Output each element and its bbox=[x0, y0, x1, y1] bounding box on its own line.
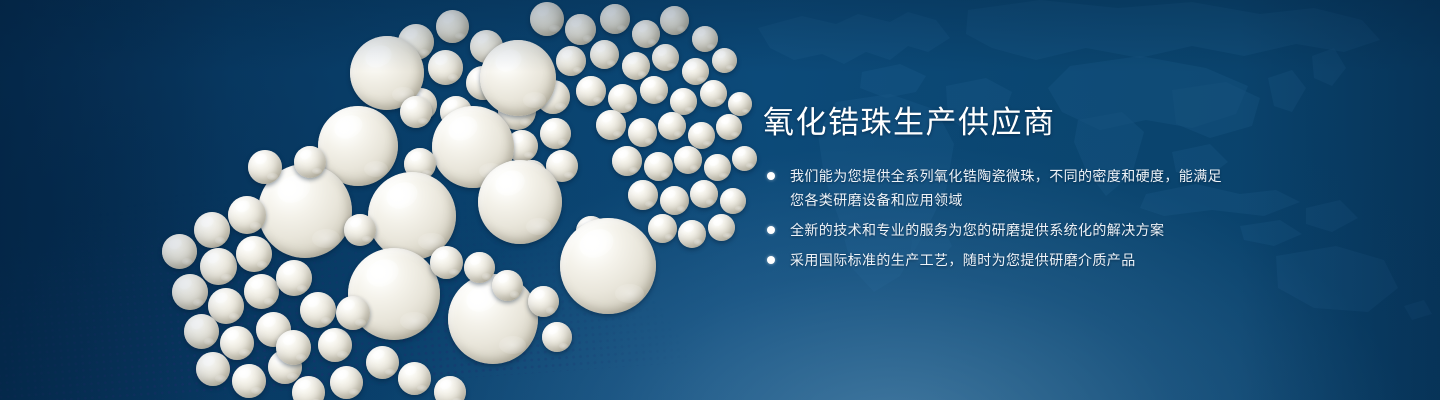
feature-list: 我们能为您提供全系列氧化锆陶瓷微珠，不同的密度和硬度，能满足您各类研磨设备和应用… bbox=[763, 164, 1233, 272]
banner-headline: 氧化锆珠生产供应商 bbox=[763, 104, 1233, 142]
feature-text: 全新的技术和专业的服务为您的研磨提供系统化的解决方案 bbox=[790, 218, 1233, 242]
list-item: 全新的技术和专业的服务为您的研磨提供系统化的解决方案 bbox=[763, 218, 1233, 242]
banner-copy: 氧化锆珠生产供应商 我们能为您提供全系列氧化锆陶瓷微珠，不同的密度和硬度，能满足… bbox=[763, 104, 1233, 272]
bullet-dot-icon bbox=[767, 256, 775, 264]
bullet-dot-icon bbox=[767, 226, 775, 234]
feature-text: 我们能为您提供全系列氧化锆陶瓷微珠，不同的密度和硬度，能满足您各类研磨设备和应用… bbox=[790, 164, 1233, 212]
feature-text: 采用国际标准的生产工艺，随时为您提供研磨介质产品 bbox=[790, 248, 1233, 272]
bullet-dot-icon bbox=[767, 172, 775, 180]
list-item: 采用国际标准的生产工艺，随时为您提供研磨介质产品 bbox=[763, 248, 1233, 272]
hero-banner: 氧化锆珠生产供应商 我们能为您提供全系列氧化锆陶瓷微珠，不同的密度和硬度，能满足… bbox=[0, 0, 1440, 400]
list-item: 我们能为您提供全系列氧化锆陶瓷微珠，不同的密度和硬度，能满足您各类研磨设备和应用… bbox=[763, 164, 1233, 212]
